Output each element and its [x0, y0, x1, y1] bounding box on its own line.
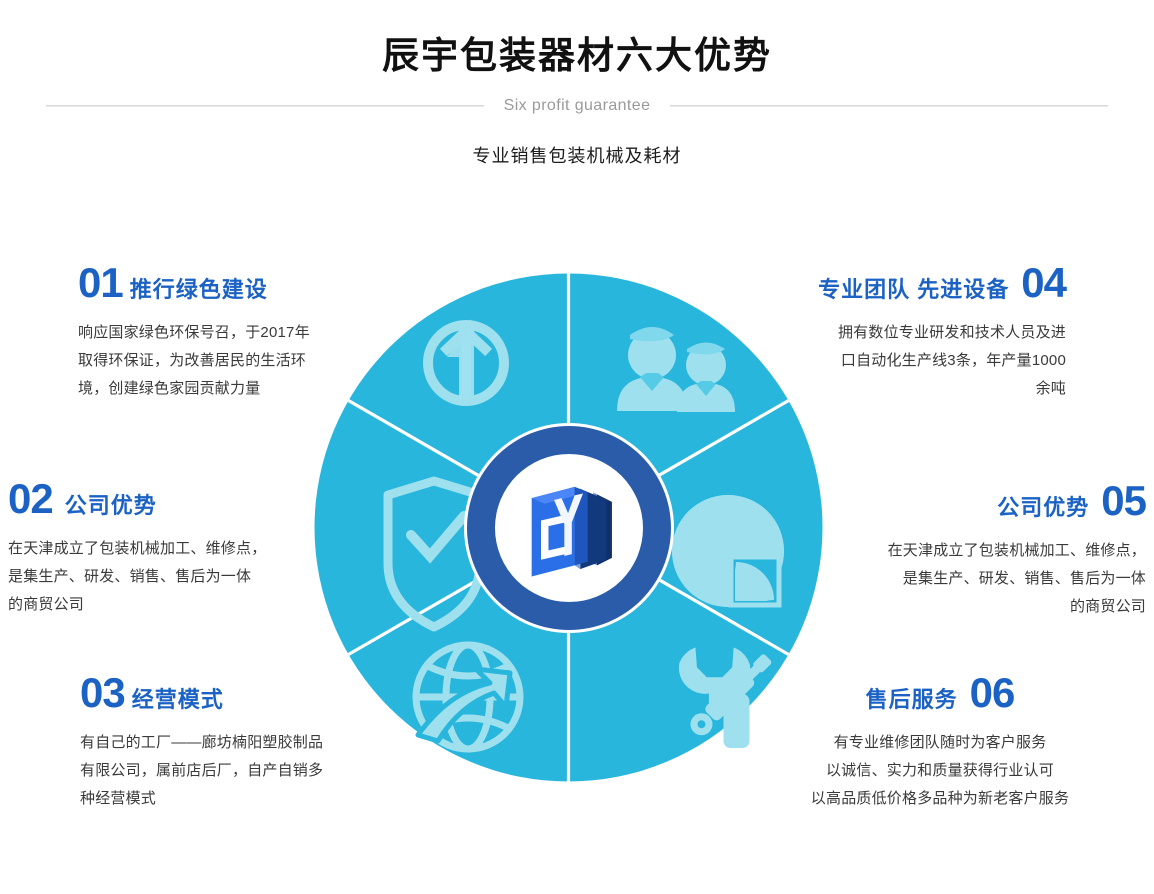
package-box-cy-logo: [513, 472, 625, 584]
body-line: 的商贸公司: [856, 593, 1146, 621]
feature-body-06: 有专业维修团队随时为客户服务 以诚信、实力和质量获得行业认可 以高品质低价格多品…: [790, 729, 1090, 812]
center-hub-inner: [495, 454, 643, 602]
divider-line-right: [670, 105, 1108, 107]
feature-body-03: 有自己的工厂——廊坊楠阳塑胶制品 有限公司，属前店后厂，自产自销多 种经营模式: [80, 729, 380, 812]
feature-heading-06: 售后服务 06: [790, 672, 1090, 714]
body-line: 以高品质低价格多品种为新老客户服务: [790, 785, 1090, 813]
feature-body-01: 响应国家绿色环保号召，于2017年 取得环保证，为改善居民的生活环 境，创建绿色…: [78, 319, 368, 402]
body-line: 有自己的工厂——廊坊楠阳塑胶制品: [80, 729, 380, 757]
feature-block-02: 02 公司优势 在天津成立了包装机械加工、维修点， 是集生产、研发、销售、售后为…: [8, 478, 298, 618]
feature-number-06: 06: [970, 672, 1015, 714]
subtitle-divider: Six profit guarantee: [0, 97, 1154, 115]
body-line: 有专业维修团队随时为客户服务: [790, 729, 1090, 757]
subtitle-english: Six profit guarantee: [484, 97, 671, 115]
body-line: 在天津成立了包装机械加工、维修点，: [8, 535, 298, 563]
feature-block-06: 售后服务 06 有专业维修团队随时为客户服务 以诚信、实力和质量获得行业认可 以…: [790, 672, 1090, 812]
feature-heading-01: 01 推行绿色建设: [78, 262, 368, 304]
feature-label-02: 公司优势: [65, 495, 157, 517]
feature-number-05: 05: [1101, 480, 1146, 522]
body-line: 的商贸公司: [8, 591, 298, 619]
feature-label-05: 公司优势: [997, 497, 1089, 519]
feature-label-06: 售后服务: [866, 689, 958, 711]
feature-heading-03: 03 经营模式: [80, 672, 380, 714]
feature-body-04: 拥有数位专业研发和技术人员及进 口自动化生产线3条，年产量1000 余吨: [776, 319, 1066, 402]
feature-heading-02: 02 公司优势: [8, 478, 298, 520]
body-line: 响应国家绿色环保号召，于2017年: [78, 319, 368, 347]
feature-heading-05: 公司优势 05: [856, 480, 1146, 522]
feature-label-03: 经营模式: [132, 689, 224, 711]
body-line: 是集生产、研发、销售、售后为一体: [8, 563, 298, 591]
body-line: 取得环保证，为改善居民的生活环: [78, 347, 368, 375]
feature-number-01: 01: [78, 262, 123, 304]
feature-number-03: 03: [80, 672, 125, 714]
body-line: 有限公司，属前店后厂，自产自销多: [80, 757, 380, 785]
body-line: 余吨: [776, 375, 1066, 403]
page-header: 辰宇包装器材六大优势 Six profit guarantee 专业销售包装机械…: [0, 0, 1154, 168]
feature-body-02: 在天津成立了包装机械加工、维修点， 是集生产、研发、销售、售后为一体 的商贸公司: [8, 535, 298, 618]
body-line: 种经营模式: [80, 785, 380, 813]
body-line: 拥有数位专业研发和技术人员及进: [776, 319, 1066, 347]
subtitle-chinese: 专业销售包装机械及耗材: [0, 142, 1154, 168]
body-line: 在天津成立了包装机械加工、维修点，: [856, 537, 1146, 565]
feature-label-01: 推行绿色建设: [130, 279, 268, 301]
center-hub: [467, 426, 671, 630]
feature-heading-04: 专业团队 先进设备 04: [776, 262, 1066, 304]
feature-block-01: 01 推行绿色建设 响应国家绿色环保号召，于2017年 取得环保证，为改善居民的…: [78, 262, 368, 402]
body-line: 口自动化生产线3条，年产量1000: [776, 347, 1066, 375]
six-segment-wheel: [314, 273, 823, 782]
page-title: 辰宇包装器材六大优势: [0, 34, 1154, 78]
feature-body-05: 在天津成立了包装机械加工、维修点， 是集生产、研发、销售、售后为一体 的商贸公司: [856, 537, 1146, 620]
feature-block-03: 03 经营模式 有自己的工厂——廊坊楠阳塑胶制品 有限公司，属前店后厂，自产自销…: [80, 672, 380, 812]
body-line: 境，创建绿色家园贡献力量: [78, 375, 368, 403]
feature-number-02: 02: [8, 478, 53, 520]
divider-line-left: [46, 105, 484, 107]
pie-chart-icon: [672, 495, 784, 607]
feature-label-04: 专业团队 先进设备: [818, 279, 1009, 301]
body-line: 以诚信、实力和质量获得行业认可: [790, 757, 1090, 785]
feature-number-04: 04: [1021, 262, 1066, 304]
body-line: 是集生产、研发、销售、售后为一体: [856, 565, 1146, 593]
feature-block-04: 专业团队 先进设备 04 拥有数位专业研发和技术人员及进 口自动化生产线3条，年…: [776, 262, 1066, 402]
feature-block-05: 公司优势 05 在天津成立了包装机械加工、维修点， 是集生产、研发、销售、售后为…: [856, 480, 1146, 620]
